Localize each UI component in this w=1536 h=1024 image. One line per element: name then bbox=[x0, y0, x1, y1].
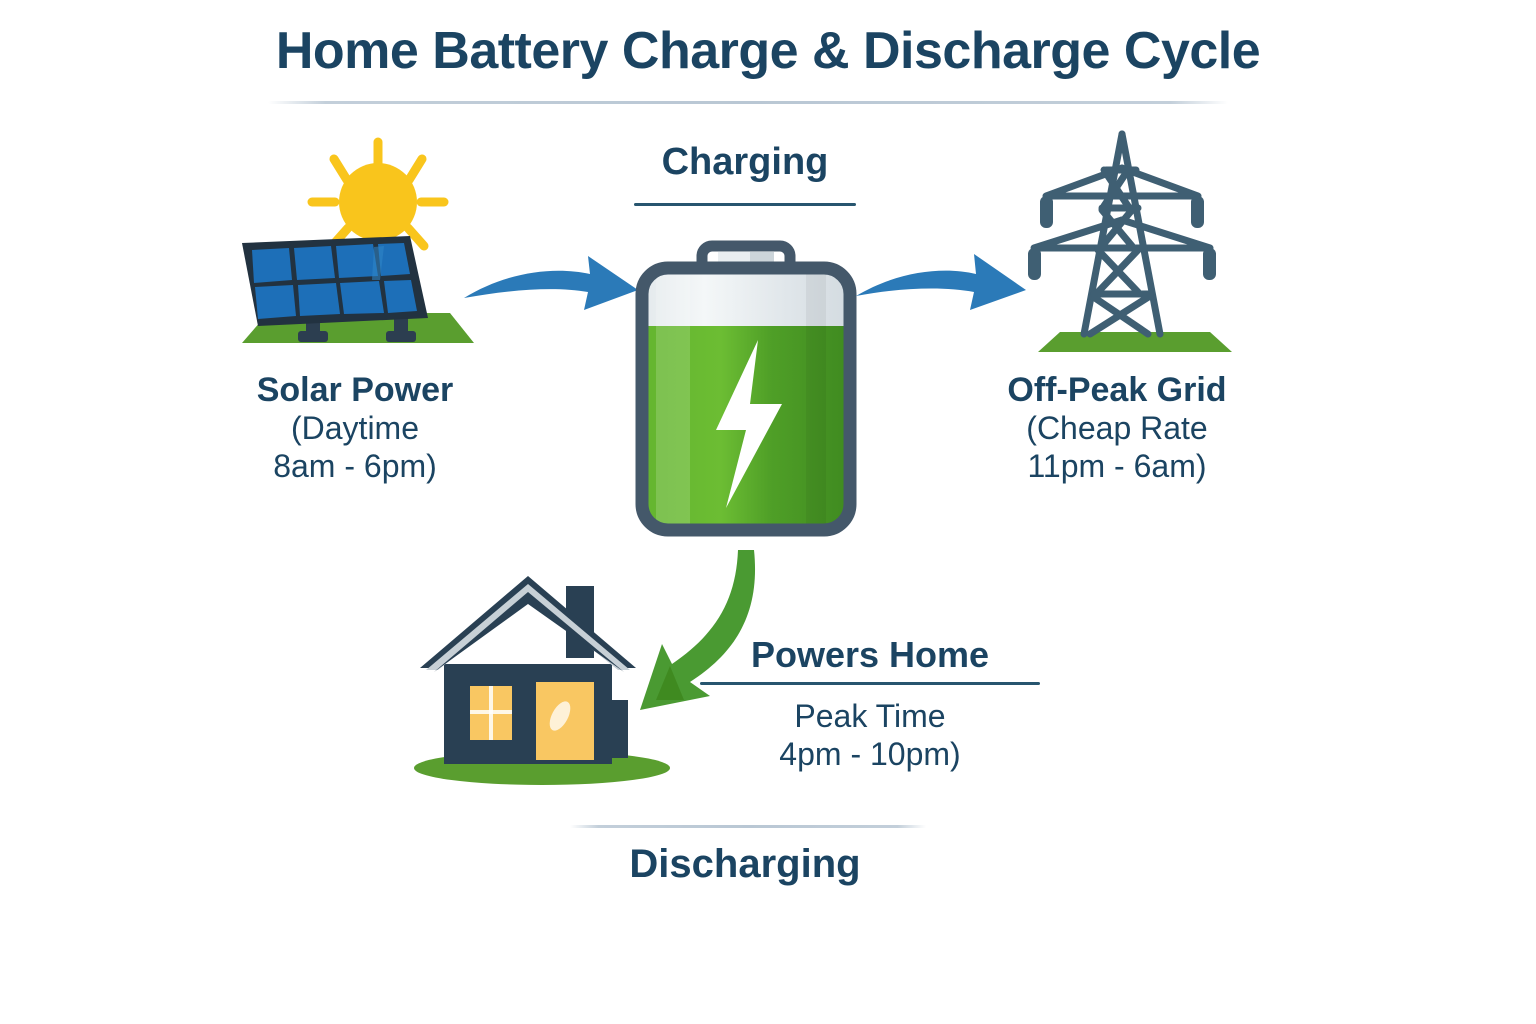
section-label-charging: Charging bbox=[0, 141, 1490, 184]
solar-sub-2: 8am - 6pm) bbox=[175, 448, 535, 486]
grid-sub-2: 11pm - 6am) bbox=[937, 448, 1297, 486]
grid-caption: Off-Peak Grid (Cheap Rate 11pm - 6am) bbox=[937, 370, 1297, 486]
powers-home-sub-2: 4pm - 10pm) bbox=[700, 735, 1040, 773]
house-icon bbox=[408, 558, 684, 790]
powers-home-label: Powers Home bbox=[700, 634, 1040, 676]
charging-divider bbox=[634, 203, 856, 206]
powers-home-divider bbox=[700, 682, 1040, 685]
title-divider bbox=[268, 101, 1228, 104]
solar-caption: Solar Power (Daytime 8am - 6pm) bbox=[175, 370, 535, 486]
grid-sub-1: (Cheap Rate bbox=[937, 410, 1297, 448]
grid-title: Off-Peak Grid bbox=[937, 370, 1297, 410]
infographic-canvas: Home Battery Charge & Discharge Cycle Ch… bbox=[0, 0, 1536, 1024]
discharging-divider bbox=[570, 825, 926, 828]
transmission-tower-icon bbox=[1018, 120, 1252, 360]
section-label-discharging: Discharging bbox=[0, 842, 1490, 887]
solar-title: Solar Power bbox=[175, 370, 535, 410]
arrow-battery-to-grid-icon bbox=[852, 248, 1032, 334]
solar-sub-1: (Daytime bbox=[175, 410, 535, 448]
battery-icon bbox=[630, 240, 862, 560]
powers-home-sub-1: Peak Time bbox=[700, 697, 1040, 735]
arrow-solar-to-battery-icon bbox=[458, 248, 648, 334]
powers-home-sub: Peak Time 4pm - 10pm) bbox=[700, 697, 1040, 774]
page-title: Home Battery Charge & Discharge Cycle bbox=[0, 22, 1536, 82]
